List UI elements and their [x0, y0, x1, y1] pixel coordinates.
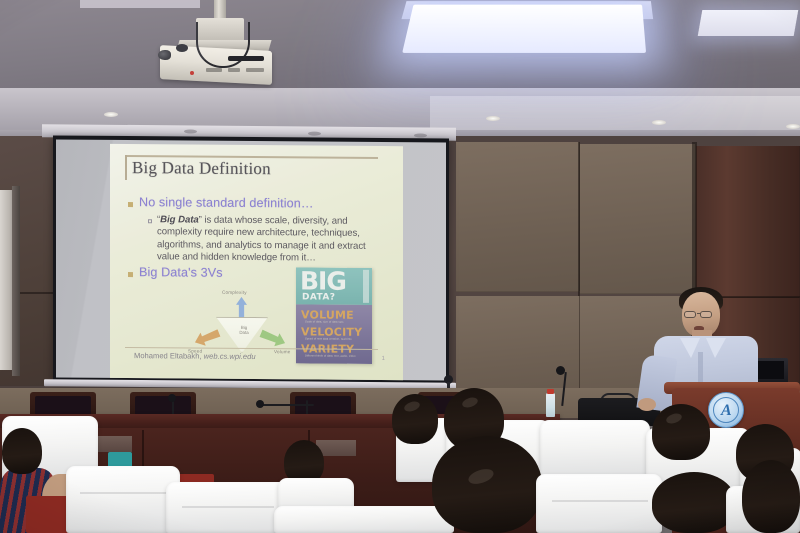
projection-screen: Big Data Definition No single standard d…	[53, 135, 449, 383]
magazine-subtitle: DATA?	[302, 292, 335, 302]
sub-emphasis: Big Data	[160, 214, 199, 225]
center-line-2: Data	[239, 330, 248, 335]
projector-vent	[228, 68, 240, 72]
eyeglasses-icon	[700, 311, 712, 318]
wall-panel	[696, 146, 800, 298]
slide-sub-bullet-1: “Big Data” is data whose scale, diversit…	[157, 214, 389, 265]
valance-screw	[308, 132, 321, 136]
magazine-fine-3: Different kinds of data: text, audio, vi…	[305, 354, 356, 357]
eyeglasses-bridge	[697, 313, 701, 314]
ceiling-light-icon	[402, 5, 646, 53]
emblem-letter: A	[721, 402, 732, 420]
audience-member-head	[742, 460, 800, 533]
magazine-fine-2: Speed of new data creation, real-time	[305, 337, 352, 340]
microphone-icon	[256, 400, 264, 408]
wall-panel	[580, 144, 696, 294]
chair-fold	[552, 500, 648, 502]
audience-member-head	[432, 436, 542, 533]
slide-bullet-2: Big Data's 3Vs	[139, 265, 223, 280]
chair-cover[interactable]	[66, 466, 180, 533]
downlight-icon	[786, 124, 800, 129]
slide-page-number: 1	[382, 356, 385, 362]
magazine-fine-1: Scale of data, size of data sets	[305, 320, 344, 323]
bullet-marker-icon	[128, 272, 133, 277]
title-rule-left	[125, 155, 127, 180]
door-frame	[12, 186, 20, 376]
projector-connector	[228, 56, 264, 61]
projector-power-led-icon	[190, 71, 194, 75]
three-vs-diagram: Complexity Big Data Speed Volume	[188, 289, 298, 362]
projector-lens-icon	[158, 50, 171, 60]
projector-knob	[176, 44, 188, 52]
diagram-center-label: Big Data	[232, 325, 256, 336]
chair-cover[interactable]	[540, 420, 650, 478]
chair-cover[interactable]	[536, 474, 662, 533]
ceiling-light-far	[698, 10, 799, 36]
slide-title: Big Data Definition	[132, 158, 271, 179]
audience-member-head	[2, 428, 42, 474]
slide-footer: Mohamed Eltabakh, web.cs.wpi.edu	[134, 351, 256, 361]
ceiling-light-strip-left	[80, 0, 200, 8]
valance-screw	[414, 133, 427, 137]
arrow-up-icon	[236, 297, 247, 319]
arrow-left-icon	[192, 326, 221, 349]
magazine-title: BIG	[300, 268, 346, 293]
speaker-hand	[638, 398, 656, 411]
projector-vent	[206, 68, 222, 72]
audience-member-head	[652, 472, 736, 533]
ceiling-slab-right	[430, 96, 800, 130]
downlight-icon	[486, 116, 500, 121]
downlight-icon	[652, 120, 666, 125]
audience-member-head	[652, 404, 710, 460]
chair-fold	[80, 492, 166, 494]
podium-emblem-icon: A	[708, 392, 744, 428]
diagram-label-right: Volume	[274, 349, 291, 354]
magazine-spine	[363, 270, 369, 303]
eyeglasses-icon	[684, 311, 696, 318]
bullet-marker-icon	[128, 202, 133, 207]
slide-bullet-1: No single standard definition…	[139, 195, 314, 210]
diagram-label-top: Complexity	[222, 290, 247, 295]
downlight-icon	[104, 112, 118, 117]
microphone-icon	[556, 366, 565, 375]
valance-screw	[184, 129, 197, 133]
footer-author: Mohamed Eltabakh,	[134, 351, 204, 361]
water-bottle[interactable]	[546, 393, 555, 417]
arrow-right-icon	[258, 327, 287, 350]
center-line-1: Big	[241, 325, 247, 330]
lecture-hall-scene: Big Data Definition No single standard d…	[0, 0, 800, 533]
chair-cover[interactable]	[166, 482, 288, 533]
screen-surface: Big Data Definition No single standard d…	[56, 139, 446, 380]
chair-cover[interactable]	[274, 506, 454, 533]
projector-vent	[246, 68, 264, 72]
microphone-icon	[168, 394, 176, 402]
footer-url: web.cs.wpi.edu	[204, 352, 256, 361]
sub-bullet-marker-icon	[148, 219, 152, 223]
chair-fold	[182, 506, 274, 508]
bottle-cap-icon	[547, 389, 554, 394]
projected-slide: Big Data Definition No single standard d…	[110, 144, 403, 380]
wall-panel	[456, 142, 580, 292]
